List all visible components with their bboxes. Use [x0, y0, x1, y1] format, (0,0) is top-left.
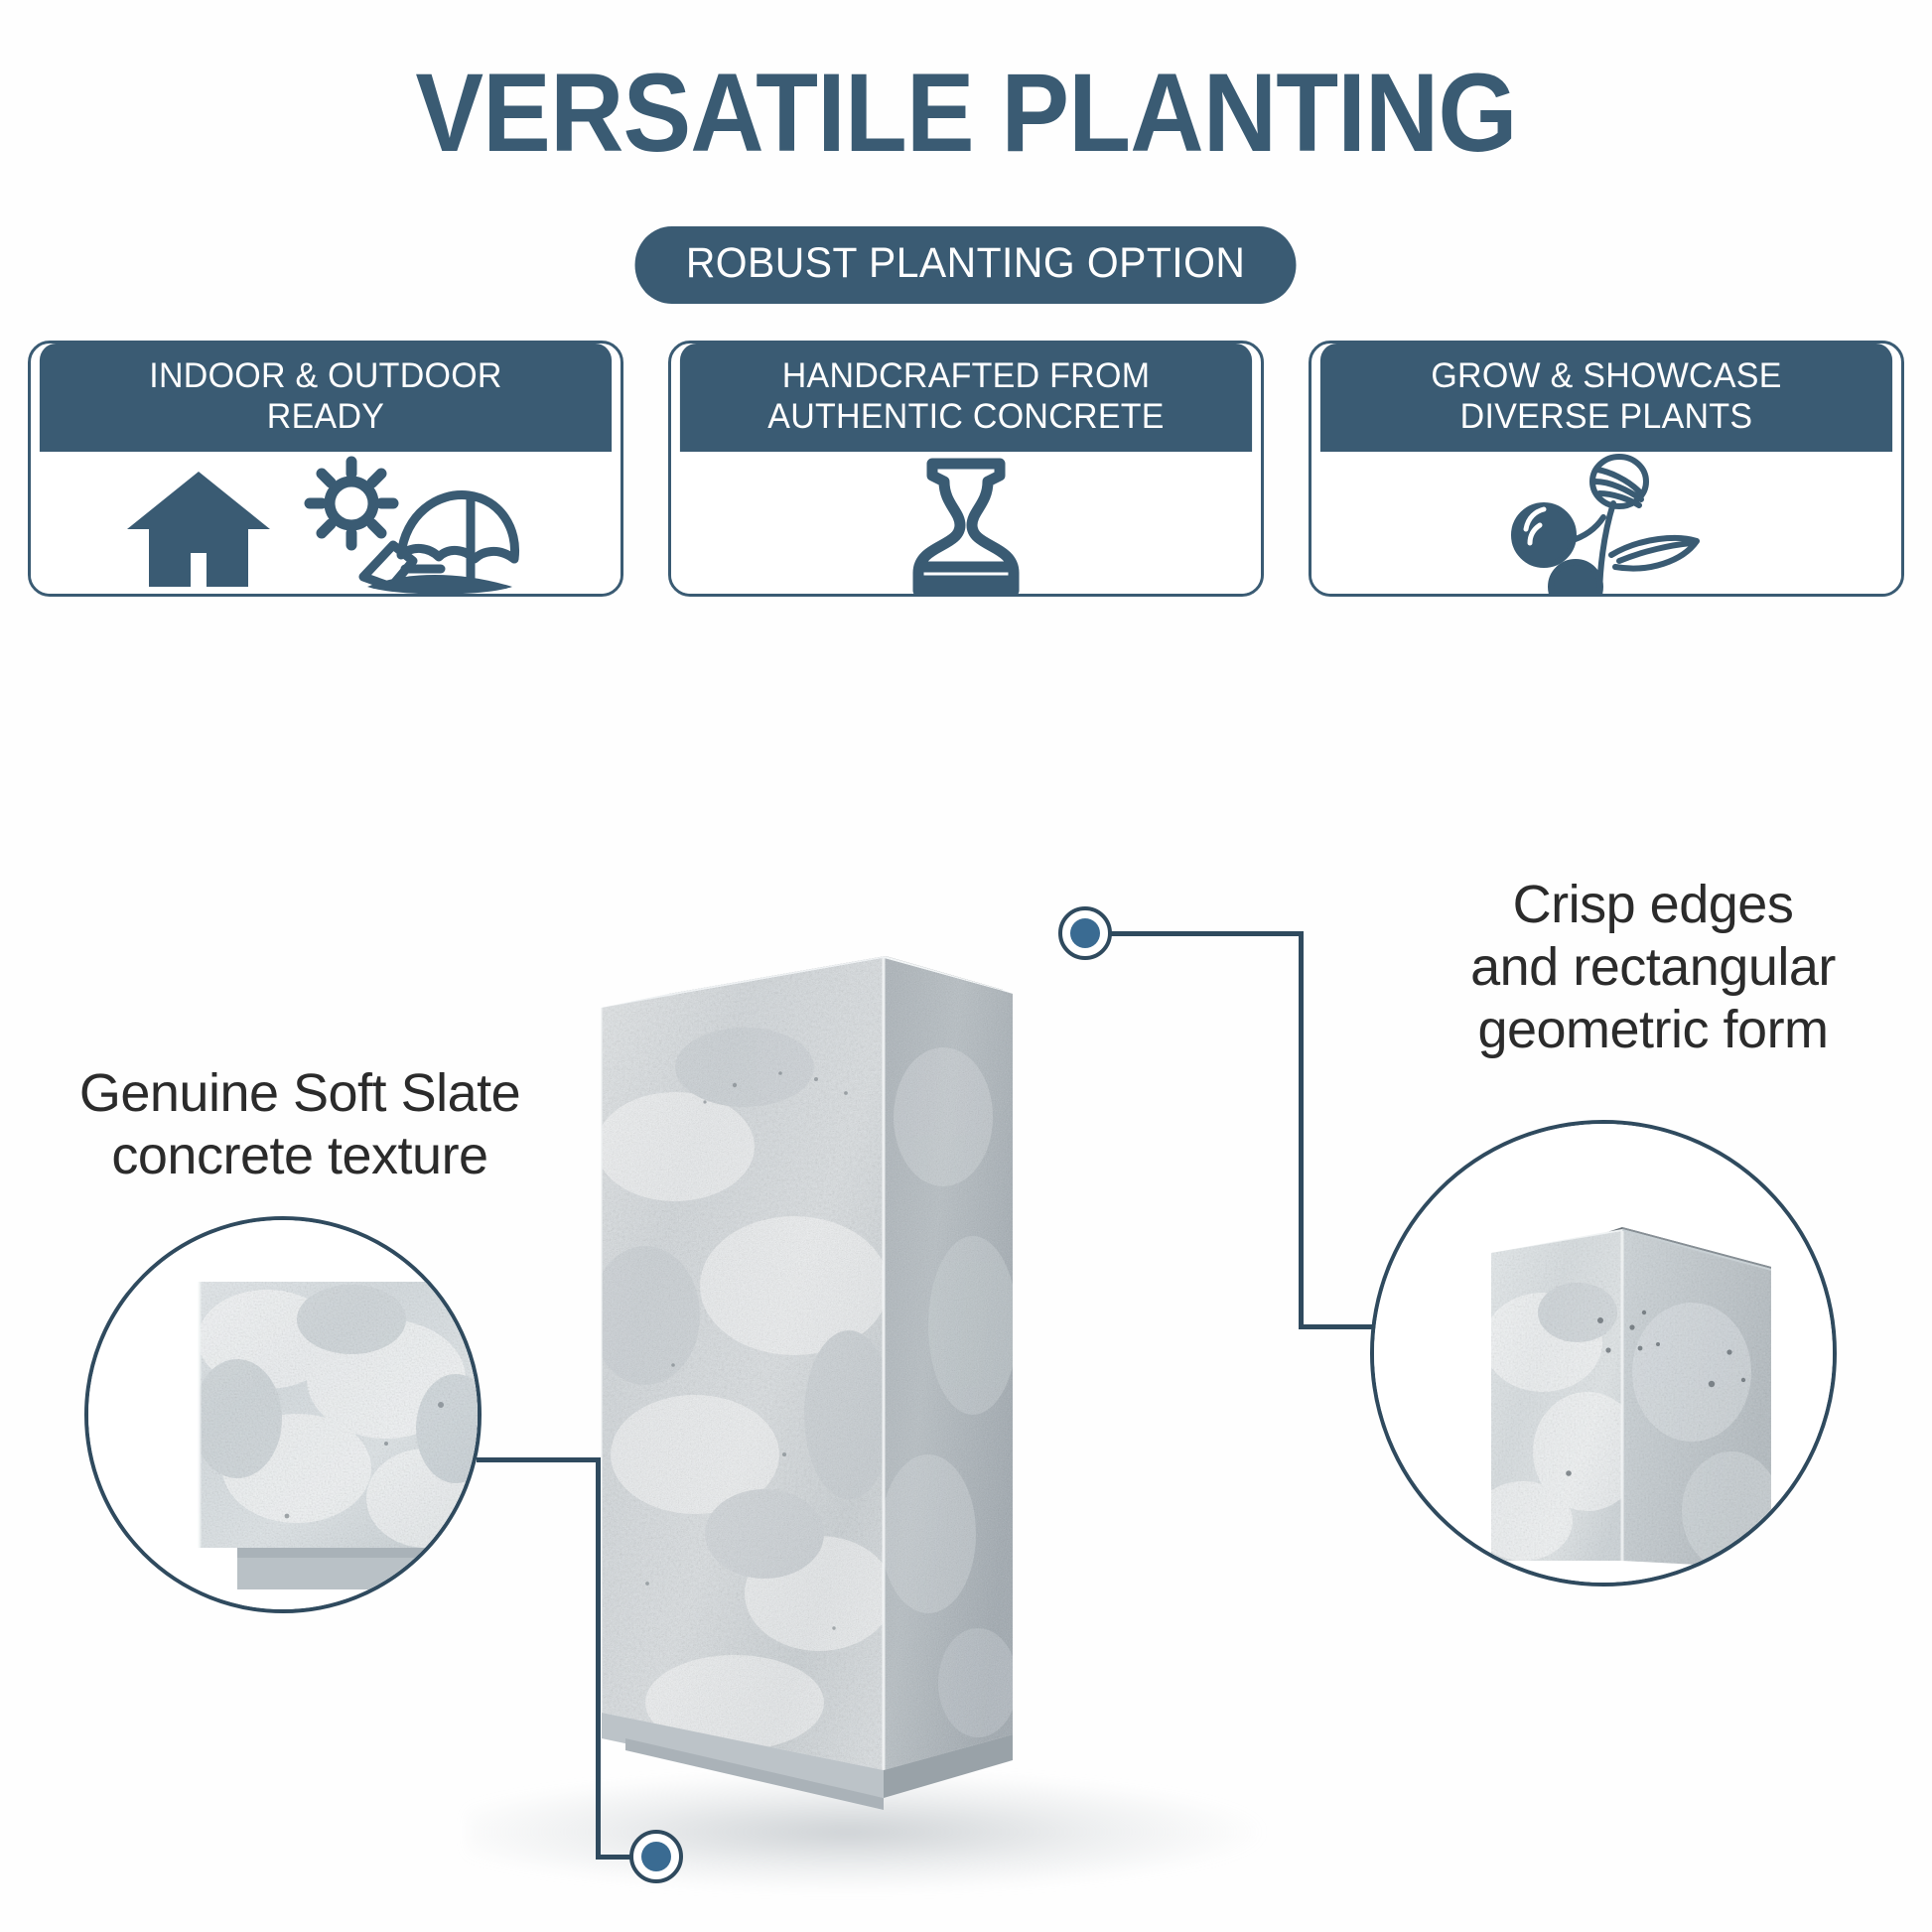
callout-left-line1: Genuine Soft Slate: [62, 1062, 538, 1125]
infographic-canvas: VERSATILE PLANTING ROBUST PLANTING OPTIO…: [0, 0, 1932, 1932]
concrete-texture-closeup: [88, 1220, 478, 1609]
callout-right-line3: geometric form: [1420, 999, 1886, 1061]
callout-soft-slate-label: Genuine Soft Slate concrete texture: [62, 1062, 538, 1187]
callout-left-connector-h2: [477, 1457, 601, 1462]
detail-inset-soft-slate-texture: [84, 1216, 482, 1613]
callout-right-connector-h2: [1299, 1324, 1378, 1329]
callout-right-line1: Crisp edges: [1420, 874, 1886, 936]
feature-card-indoor-outdoor: INDOOR & OUTDOOR READY: [28, 341, 623, 597]
badge-container: ROBUST PLANTING OPTION: [0, 226, 1932, 304]
callout-left-line2: concrete texture: [62, 1125, 538, 1187]
feature-card-2-header: HANDCRAFTED FROM AUTHENTIC CONCRETE: [680, 344, 1252, 452]
status-badge: ROBUST PLANTING OPTION: [635, 226, 1297, 304]
feature-card-2-body: [671, 452, 1261, 597]
detail-inset-left-image: [88, 1220, 478, 1609]
callout-right-connector-h1: [1105, 931, 1304, 936]
callout-right-connector-v: [1299, 931, 1304, 1328]
feature-card-3-title-line2: DIVERSE PLANTS: [1330, 396, 1883, 437]
house-sun-beach-icon: [107, 452, 544, 597]
callout-right-line2: and rectangular: [1420, 936, 1886, 999]
feature-card-2-title-line2: AUTHENTIC CONCRETE: [690, 396, 1243, 437]
feature-card-2-title-line1: HANDCRAFTED FROM: [690, 355, 1243, 396]
feature-card-row: INDOOR & OUTDOOR READY: [28, 341, 1904, 597]
feature-card-handcrafted-concrete: HANDCRAFTED FROM AUTHENTIC CONCRETE: [668, 341, 1264, 597]
callout-marker-base-texture[interactable]: [629, 1830, 683, 1883]
feature-card-1-title-line2: READY: [50, 396, 603, 437]
vase-icon: [877, 452, 1055, 597]
crisp-corner-closeup: [1374, 1124, 1833, 1583]
feature-card-3-title-line1: GROW & SHOWCASE: [1330, 355, 1883, 396]
product-planter-image: [586, 898, 1112, 1862]
feature-card-3-header: GROW & SHOWCASE DIVERSE PLANTS: [1320, 344, 1892, 452]
feature-card-grow-showcase: GROW & SHOWCASE DIVERSE PLANTS: [1309, 341, 1904, 597]
detail-inset-crisp-edges: [1370, 1120, 1837, 1587]
callout-marker-top-rim[interactable]: [1058, 906, 1112, 960]
callout-left-connector-v: [596, 1457, 601, 1860]
callout-crisp-edges-label: Crisp edges and rectangular geometric fo…: [1420, 874, 1886, 1062]
feature-card-3-body: [1311, 452, 1901, 597]
planter-geometry: [586, 898, 1112, 1862]
feature-card-1-title-line1: INDOOR & OUTDOOR: [50, 355, 603, 396]
feature-card-1-body: [31, 452, 621, 597]
detail-inset-right-image: [1374, 1124, 1833, 1583]
page-title: VERSATILE PLANTING: [77, 58, 1855, 169]
feature-card-1-header: INDOOR & OUTDOOR READY: [40, 344, 612, 452]
berry-sprig-icon: [1492, 452, 1721, 597]
